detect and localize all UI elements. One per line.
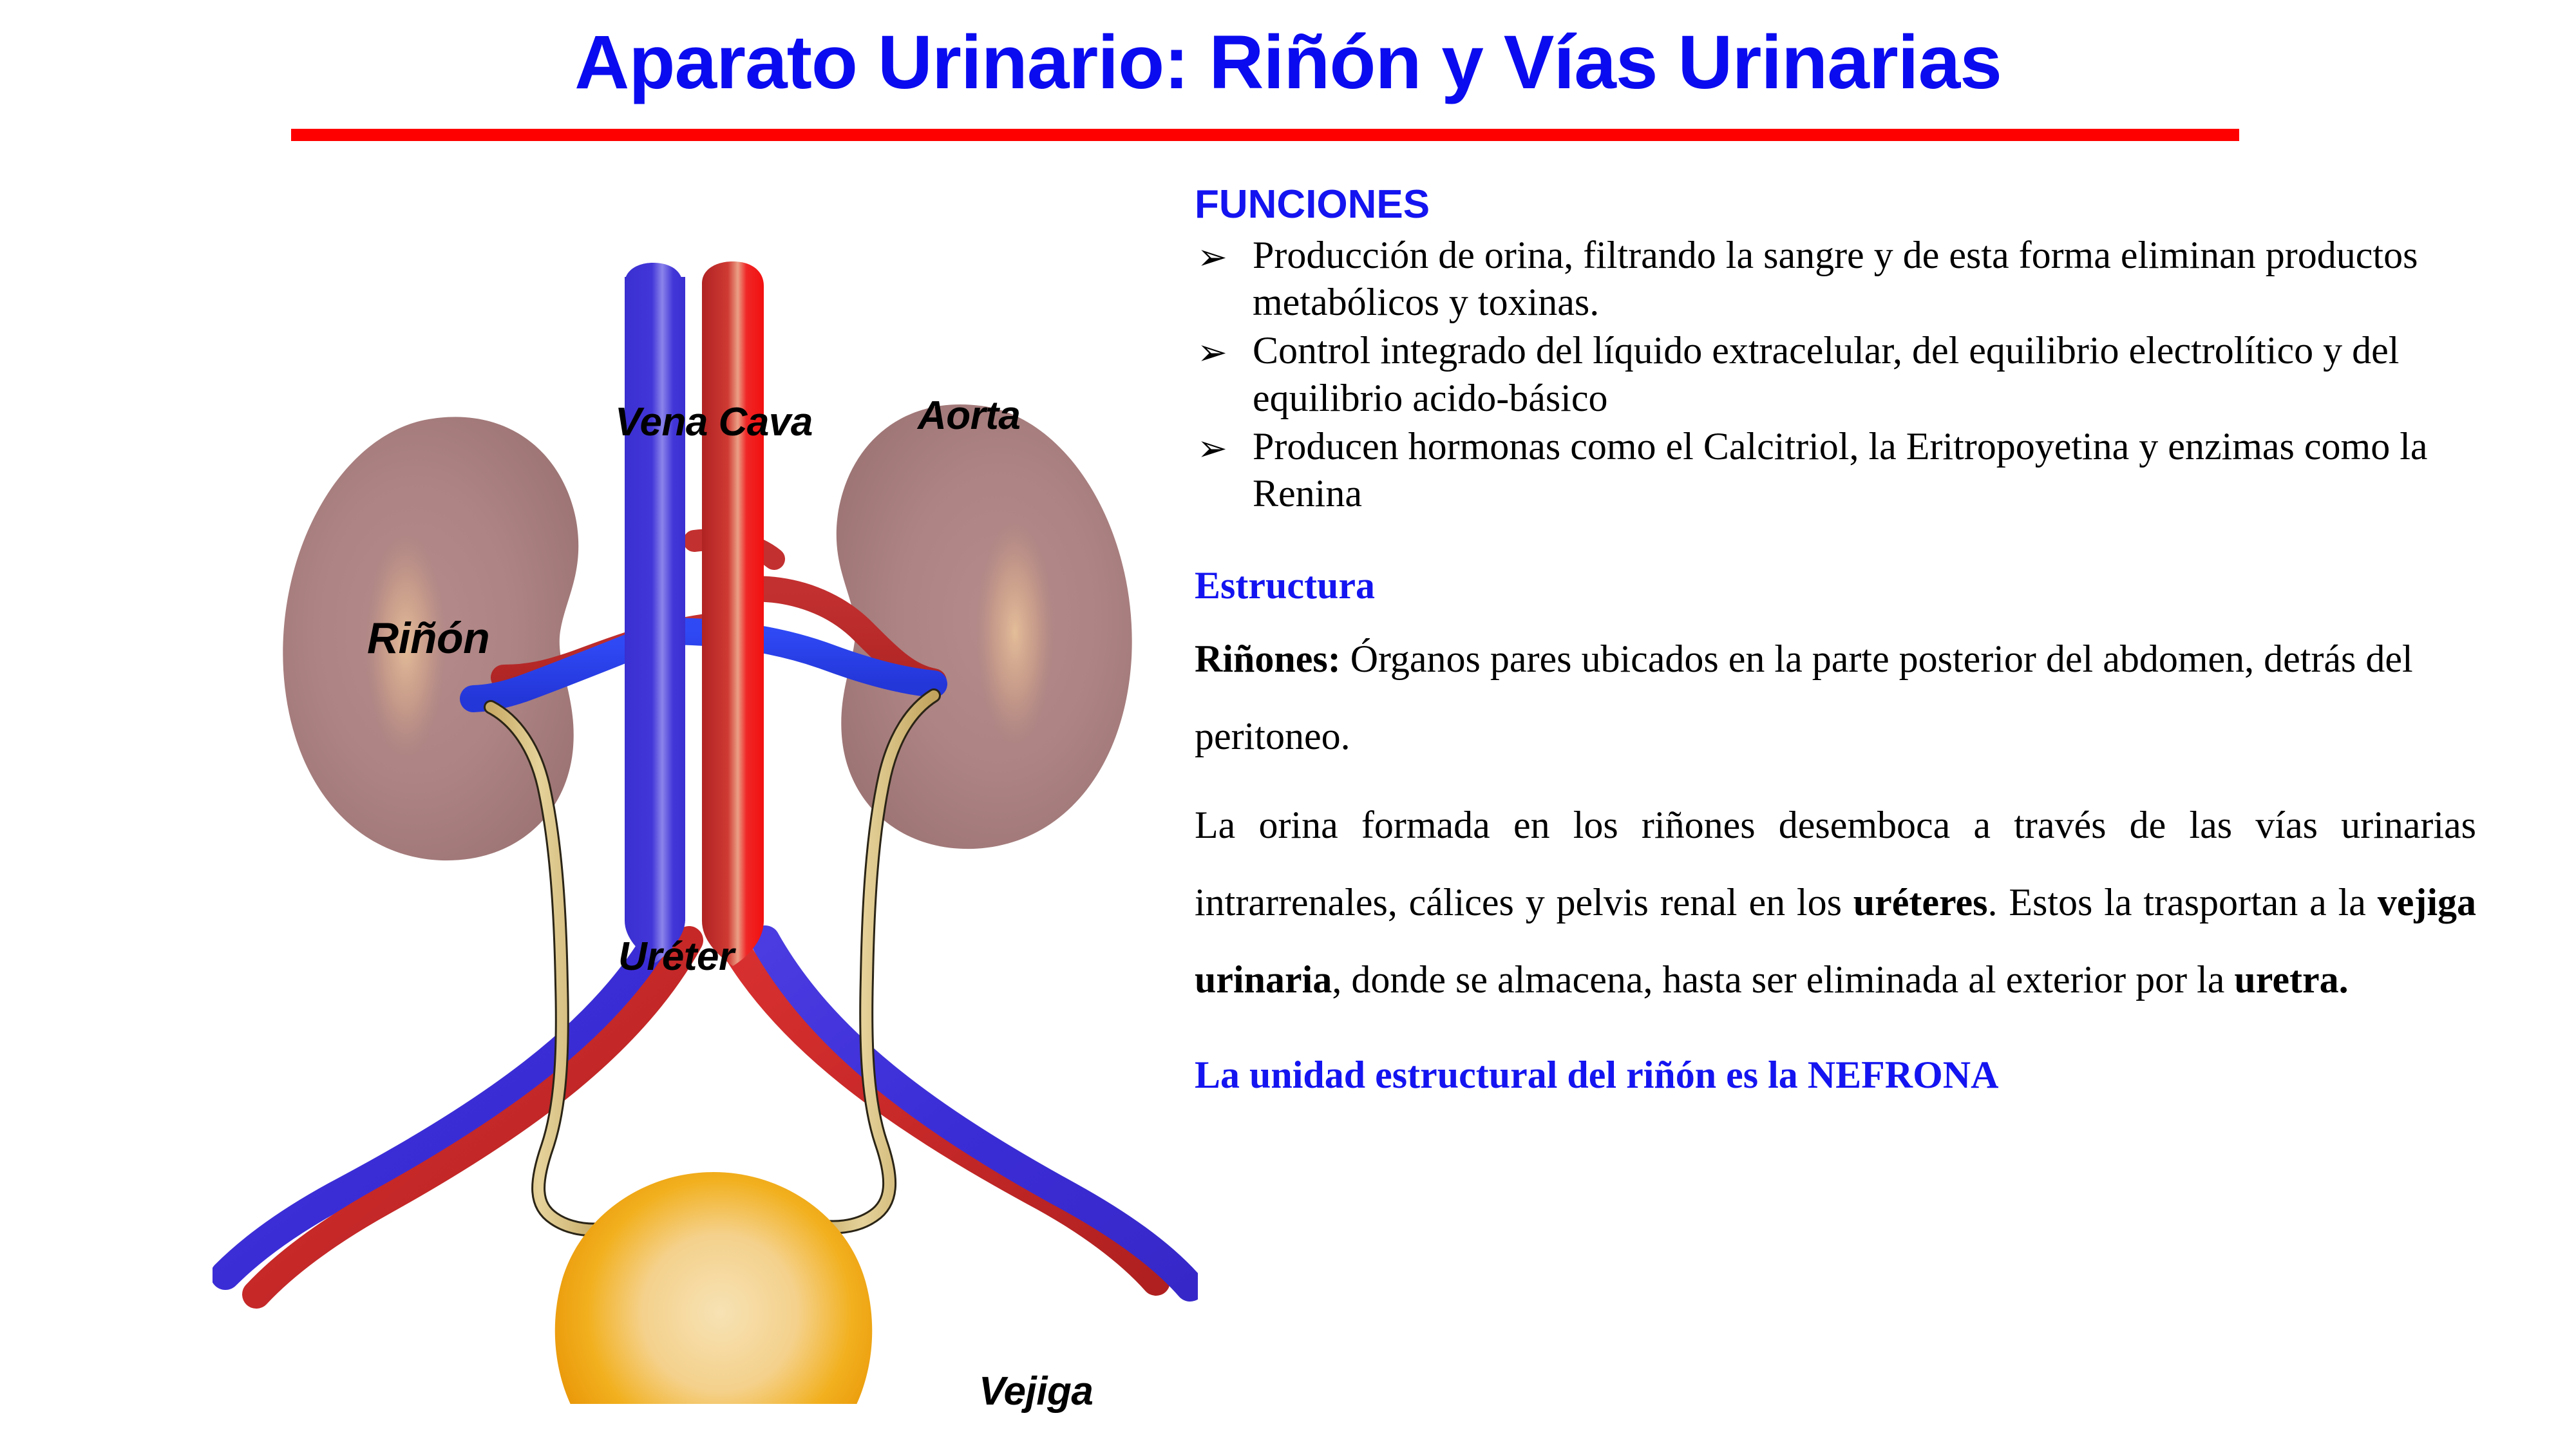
orina-paragraph: La orina formada en los riñones desemboc… bbox=[1195, 786, 2476, 1018]
label-vejiga: Vejiga bbox=[979, 1368, 1093, 1414]
funciones-heading: FUNCIONES bbox=[1195, 184, 2476, 227]
funciones-item: ➢ Producen hormonas como el Calcitriol, … bbox=[1195, 423, 2476, 517]
rinones-definition: Órganos pares ubicados en la parte poste… bbox=[1195, 638, 2413, 757]
label-aorta: Aorta bbox=[918, 393, 1020, 439]
arrow-bullet-icon: ➢ bbox=[1197, 331, 1227, 375]
title-underline-rule bbox=[291, 129, 2239, 141]
funciones-item-text: Producen hormonas como el Calcitriol, la… bbox=[1253, 425, 2428, 515]
rinones-term: Riñones: bbox=[1195, 638, 1341, 680]
orina-text-3: , donde se almacena, hasta ser eliminada… bbox=[1332, 958, 2234, 1001]
funciones-list: ➢ Producción de orina, filtrando la sang… bbox=[1195, 232, 2476, 517]
funciones-item-text: Control integrado del líquido extracelul… bbox=[1253, 329, 2399, 419]
title-block: Aparato Urinario: Riñón y Vías Urinarias bbox=[0, 19, 2576, 107]
label-vena-cava: Vena Cava bbox=[615, 399, 813, 445]
nefrona-statement: La unidad estructural del riñón es la NE… bbox=[1195, 1052, 2476, 1098]
funciones-item: ➢ Control integrado del líquido extracel… bbox=[1195, 327, 2476, 421]
page-title: Aparato Urinario: Riñón y Vías Urinarias bbox=[0, 19, 2576, 107]
slide-canvas: Aparato Urinario: Riñón y Vías Urinarias bbox=[0, 0, 2576, 1449]
arrow-bullet-icon: ➢ bbox=[1197, 427, 1227, 471]
text-column: FUNCIONES ➢ Producción de orina, filtran… bbox=[1195, 184, 2476, 1098]
orina-text-2: . Estos la trasportan a la bbox=[1988, 881, 2378, 923]
bladder-shape bbox=[555, 1172, 872, 1404]
arrow-bullet-icon: ➢ bbox=[1197, 236, 1227, 279]
rinones-paragraph: Riñones: Órganos pares ubicados en la pa… bbox=[1195, 620, 2476, 775]
urinary-system-diagram: Vena Cava Aorta Riñón Uréter Vejiga Uret… bbox=[213, 180, 1198, 1404]
funciones-item-text: Producción de orina, filtrando la sangre… bbox=[1253, 234, 2418, 323]
estructura-heading: Estructura bbox=[1195, 562, 2476, 609]
ureteres-term: uréteres bbox=[1853, 881, 1988, 923]
uretra-term: uretra. bbox=[2234, 958, 2348, 1001]
label-ureter: Uréter bbox=[618, 934, 734, 980]
label-rinon: Riñón bbox=[367, 613, 489, 663]
funciones-item: ➢ Producción de orina, filtrando la sang… bbox=[1195, 232, 2476, 326]
aorta-trunk bbox=[702, 261, 764, 966]
